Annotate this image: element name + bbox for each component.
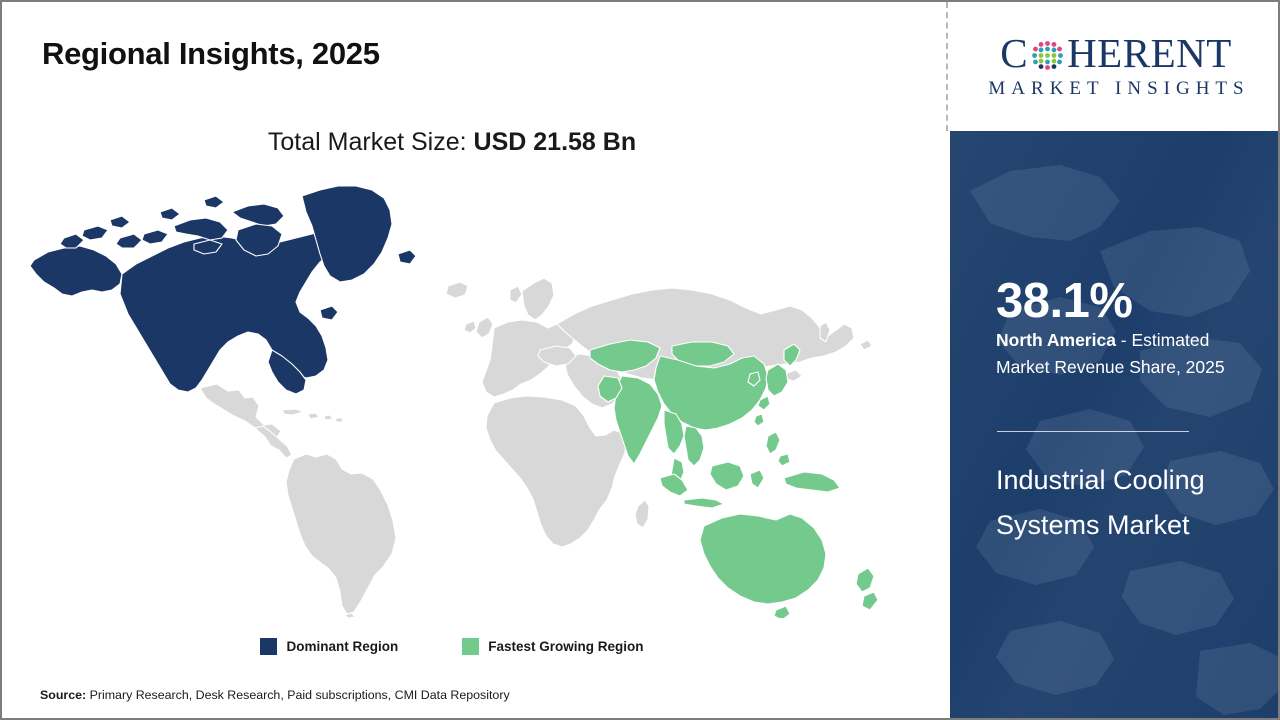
legend-item-fastest-growing: Fastest Growing Region — [462, 638, 643, 655]
right-panel: C — [950, 2, 1280, 720]
stat-panel: 38.1% North America - Estimated Market R… — [950, 131, 1280, 720]
map-region-north-america[interactable] — [30, 186, 416, 394]
total-market-size-value: USD 21.58 Bn — [474, 128, 637, 156]
map-legend: Dominant Region Fastest Growing Region — [2, 638, 902, 655]
share-percent-value: 38.1% — [996, 277, 1132, 326]
page-title: Regional Insights, 2025 — [42, 36, 380, 72]
map-region-asia-pacific[interactable] — [590, 340, 878, 618]
source-text: Primary Research, Desk Research, Paid su… — [86, 688, 510, 702]
world-map[interactable] — [24, 178, 914, 618]
horizontal-rule — [997, 431, 1189, 432]
legend-label-fastest-growing: Fastest Growing Region — [488, 639, 643, 654]
source-note: Source: Primary Research, Desk Research,… — [40, 688, 510, 702]
infographic-page: Regional Insights, 2025 Total Market Siz… — [0, 0, 1280, 720]
share-region-name: North America — [996, 330, 1116, 350]
square-swatch-icon — [462, 638, 479, 655]
logo-subtitle: MARKET INSIGHTS — [982, 78, 1249, 100]
brand-logo[interactable]: C — [950, 2, 1280, 131]
logo-word-start: C — [1000, 33, 1028, 74]
market-name: Industrial Cooling Systems Market — [996, 458, 1246, 549]
vertical-dashed-divider — [946, 2, 948, 131]
stat-panel-content: 38.1% North America - Estimated Market R… — [996, 131, 1260, 720]
logo-wordmark: C — [1000, 33, 1232, 74]
share-description: North America - Estimated Market Revenue… — [996, 327, 1262, 381]
legend-label-dominant: Dominant Region — [286, 639, 398, 654]
square-swatch-icon — [260, 638, 277, 655]
logo-word-end: HERENT — [1067, 33, 1232, 74]
legend-item-dominant: Dominant Region — [260, 638, 398, 655]
total-market-size-label: Total Market Size: — [268, 128, 474, 156]
total-market-size: Total Market Size: USD 21.58 Bn — [2, 128, 902, 157]
dotted-globe-icon — [1029, 37, 1066, 74]
left-content-pane: Regional Insights, 2025 Total Market Siz… — [2, 2, 948, 718]
source-label: Source: — [40, 688, 86, 702]
